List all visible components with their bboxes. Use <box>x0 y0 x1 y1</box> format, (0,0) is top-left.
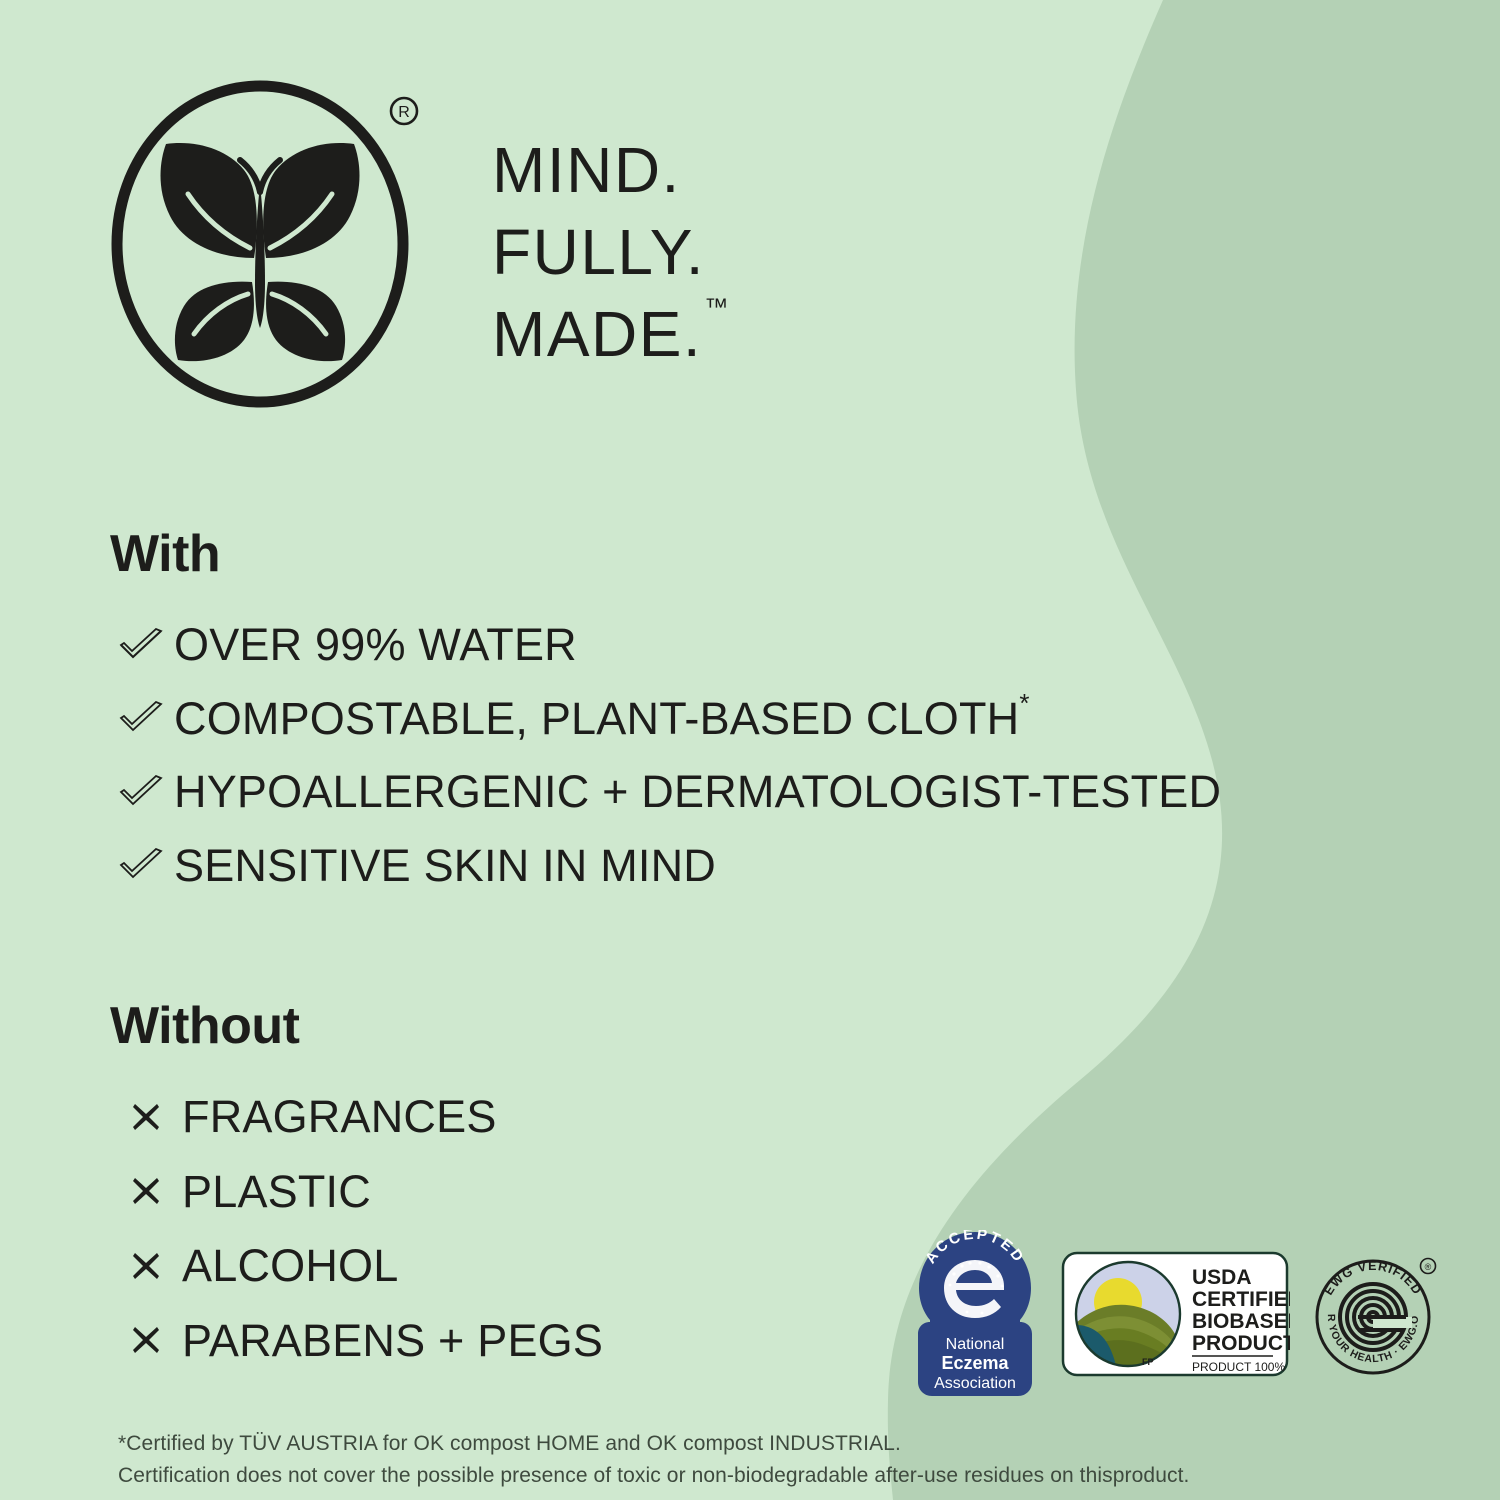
trademark-mark: ™ <box>704 294 728 321</box>
footnote-line-1: *Certified by TÜV AUSTRIA for OK compost… <box>118 1428 1189 1460</box>
ewg-verified-badge: EWG VERIFIED FOR YOUR HEALTH · EWG.ORG ® <box>1310 1250 1440 1380</box>
list-item: FRAGRANCES <box>110 1092 603 1142</box>
badge-line-2: Eczema <box>941 1353 1009 1373</box>
svg-text:R: R <box>398 104 410 121</box>
badge-line-2: CERTIFIED <box>1192 1288 1290 1311</box>
product-claims-panel: R MIND. FULLY. MADE.™ With OVER 9 <box>0 0 1500 1500</box>
tagline-line-2: FULLY. <box>492 212 726 294</box>
badge-line-1: USDA <box>1192 1266 1252 1289</box>
list-item-label: ALCOHOL <box>182 1241 398 1291</box>
check-icon <box>110 848 174 882</box>
cross-icon <box>110 1250 182 1282</box>
with-section-title: With <box>110 528 1221 580</box>
list-item: HYPOALLERGENIC + DERMATOLOGIST-TESTED <box>110 767 1221 817</box>
list-item-label: OVER 99% WATER <box>174 620 577 670</box>
stippled-e-icon <box>944 1260 1004 1318</box>
cross-icon <box>110 1175 182 1207</box>
brand-header: R MIND. FULLY. MADE.™ <box>108 72 726 417</box>
without-item-list: FRAGRANCES PLASTIC ALCOHOL <box>110 1092 603 1365</box>
list-item-label: FRAGRANCES <box>182 1092 497 1142</box>
svg-text:®: ® <box>1425 1262 1432 1272</box>
registered-mark-icon: R <box>391 98 417 124</box>
check-icon <box>110 628 174 662</box>
certification-badges: ACCEPTED National Eczema Association <box>910 1230 1440 1400</box>
without-section: Without FRAGRANCES PLASTIC <box>110 1000 603 1390</box>
check-icon <box>110 775 174 809</box>
list-item: SENSITIVE SKIN IN MIND <box>110 841 1221 891</box>
list-item: PARABENS + PEGS <box>110 1316 603 1366</box>
tagline-line-3-wrapper: MADE.™ <box>492 294 726 376</box>
badge-line-4: PRODUCT <box>1192 1332 1290 1355</box>
list-item: ALCOHOL <box>110 1241 603 1291</box>
cross-icon <box>110 1101 182 1133</box>
list-item-label: PARABENS + PEGS <box>182 1316 603 1366</box>
footnote-line-2: Certification does not cover the possibl… <box>118 1460 1189 1492</box>
usda-landscape-icon <box>1076 1262 1180 1367</box>
badge-sub: PRODUCT 100% <box>1192 1360 1285 1374</box>
with-section: With OVER 99% WATER COMPOSTABLE, PLAN <box>110 528 1221 914</box>
list-item: OVER 99% WATER <box>110 620 1221 670</box>
national-eczema-association-badge: ACCEPTED National Eczema Association <box>910 1230 1040 1400</box>
check-icon <box>110 701 174 735</box>
list-item-label: COMPOSTABLE, PLANT-BASED CLOTH* <box>174 694 1030 744</box>
list-item: PLASTIC <box>110 1167 603 1217</box>
butterfly-in-circle-logo-icon: R <box>108 72 426 417</box>
registered-mark-icon: ® <box>1421 1259 1436 1274</box>
brand-logo: R <box>108 72 426 417</box>
brand-tagline: MIND. FULLY. MADE.™ <box>492 130 726 376</box>
badge-line-1: National <box>946 1336 1005 1353</box>
list-item-label: PLASTIC <box>182 1167 371 1217</box>
list-item: COMPOSTABLE, PLANT-BASED CLOTH* <box>110 694 1221 744</box>
tagline-line-1: MIND. <box>492 130 726 212</box>
with-item-list: OVER 99% WATER COMPOSTABLE, PLANT-BASED … <box>110 620 1221 890</box>
badge-line-3: BIOBASED <box>1192 1310 1290 1333</box>
list-item-label: HYPOALLERGENIC + DERMATOLOGIST-TESTED <box>174 767 1221 817</box>
usda-certified-biobased-product-badge: FP USDA CERTIFIED BIOBASED PRODUCT PRODU… <box>1060 1245 1290 1385</box>
tagline-line-3: MADE. <box>492 298 702 370</box>
badge-line-3: Association <box>934 1375 1016 1392</box>
without-section-title: Without <box>110 1000 603 1052</box>
list-item-label: SENSITIVE SKIN IN MIND <box>174 841 716 891</box>
footnote: *Certified by TÜV AUSTRIA for OK compost… <box>118 1428 1189 1492</box>
cross-icon <box>110 1324 182 1356</box>
badge-corner-mark: FP <box>1142 1357 1154 1367</box>
